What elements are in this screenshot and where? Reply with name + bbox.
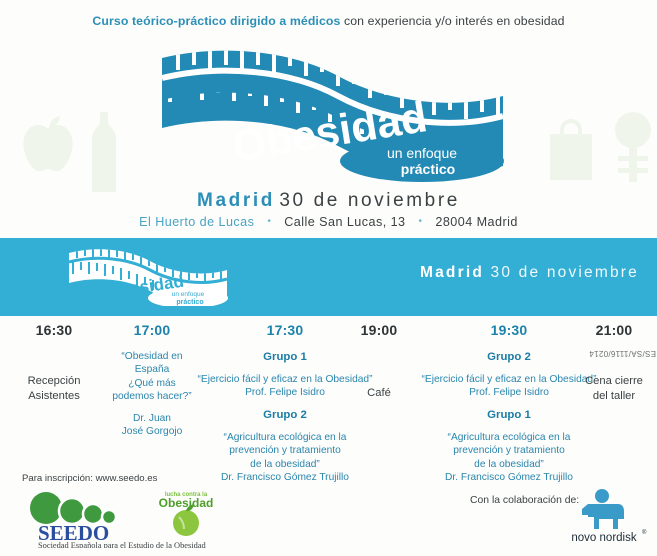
schedule-block-dark: Cena cierredel taller — [572, 374, 656, 403]
tree-watermark-icon — [612, 110, 654, 184]
schedule-body: RecepciónAsistentes — [8, 374, 100, 403]
schedule-line: “Agricultura ecológica en la — [190, 431, 380, 444]
schedule-line: Recepción — [8, 374, 100, 389]
obesidad-logo-white: Obesidad un enfoque práctico — [68, 248, 228, 306]
schedule-block-gap — [190, 423, 380, 431]
logo-subtitle-line2: práctico — [401, 161, 455, 177]
novo-nordisk-wordmark: novo nordisk — [571, 532, 636, 544]
schedule-block-gap — [190, 400, 380, 408]
schedule-block-grupo: Grupo 2 — [190, 408, 380, 423]
bag-watermark-icon — [548, 118, 594, 180]
schedule-column-1630: 16:30RecepciónAsistentes — [8, 322, 100, 403]
seedo-full: Sociedad Española para el Estudio de la … — [38, 541, 206, 548]
event-dateline: Madrid 30 de noviembre — [0, 190, 657, 212]
schedule-line: Asistentes — [8, 389, 100, 404]
schedule-block-body: “Agricultura ecológica en laprevención y… — [190, 431, 380, 485]
obesidad-logo: Obesidad un enfoque práctico — [160, 48, 505, 183]
venue-name: El Huerto de Lucas — [139, 215, 254, 229]
schedule-line: prevención y tratamiento — [190, 444, 380, 457]
lucha-obesidad-logo: lucha contra la Obesidad — [140, 487, 232, 537]
logo-subtitle-line1: un enfoque — [387, 145, 457, 161]
schedule-time-1630: 16:30 — [8, 322, 100, 338]
poster-page: Curso teórico-práctico dirigido a médico… — [0, 0, 657, 556]
schedule-column-2100: 21:00Cena cierredel taller — [572, 322, 656, 403]
blue-banner: Obesidad un enfoque práctico Madrid 30 d… — [0, 238, 657, 316]
schedule-line: Cena cierre — [572, 374, 656, 389]
event-date: 30 de noviembre — [279, 190, 460, 211]
venue-street: Calle San Lucas, 13 — [284, 215, 405, 229]
venue-separator-1: • — [258, 216, 280, 227]
schedule-line: de la obesidad” — [190, 458, 380, 471]
reference-code: ES/SA/1116/0214 — [589, 349, 656, 358]
inscription-text[interactable]: Para inscripción: www.seedo.es — [22, 473, 157, 484]
schedule-line: Grupo 2 — [190, 408, 380, 423]
schedule-line: “Agricultura ecológica en la — [414, 431, 604, 444]
course-tagline: Curso teórico-práctico dirigido a médico… — [0, 14, 657, 28]
schedule-block-body: “Agricultura ecológica en laprevención y… — [414, 431, 604, 485]
schedule-line: Dr. Francisco Gómez Trujillo — [414, 471, 604, 484]
novo-nordisk-logo: novo nordisk ® — [566, 487, 648, 547]
schedule-line: de la obesidad” — [414, 458, 604, 471]
schedule-line: prevención y tratamiento — [414, 444, 604, 457]
bottle-watermark-icon — [88, 112, 120, 192]
banner-dateline: Madrid 30 de noviembre — [420, 264, 639, 282]
schedule-line: Dr. Francisco Gómez Trujillo — [190, 471, 380, 484]
schedule-time-1900: 19:00 — [334, 322, 424, 338]
tagline-rest: con experiencia y/o interés en obesidad — [344, 14, 565, 28]
apple-watermark-icon — [18, 115, 78, 185]
schedule-column-1900: 19:00Café — [334, 322, 424, 401]
schedule-block-grupo: Grupo 1 — [414, 408, 604, 423]
event-venue: El Huerto de Lucas • Calle San Lucas, 13… — [0, 215, 657, 229]
schedule-line: Grupo 1 — [414, 408, 604, 423]
schedule-body: Cena cierredel taller — [572, 374, 656, 403]
lucha-line2: Obesidad — [159, 496, 214, 510]
tagline-bold: Curso teórico-práctico dirigido a médico… — [92, 14, 340, 28]
banner-city: Madrid — [420, 264, 484, 281]
banner-logo-sub1: un enfoque — [172, 291, 205, 298]
schedule-block-dark: RecepciónAsistentes — [8, 374, 100, 403]
collaboration-label: Con la colaboración de: — [470, 495, 579, 506]
schedule-line: Café — [334, 386, 424, 401]
schedule-block-gap — [414, 423, 604, 431]
schedule-body: Café — [334, 386, 424, 401]
venue-zip: 28004 Madrid — [435, 215, 517, 229]
event-city: Madrid — [197, 190, 275, 211]
schedule-block-dark: Café — [334, 386, 424, 401]
banner-date: 30 de noviembre — [491, 264, 639, 281]
schedule-grid: 16:30RecepciónAsistentes17:00“Obesidad e… — [0, 322, 657, 467]
venue-separator-2: • — [409, 216, 431, 227]
banner-logo-sub2: práctico — [176, 299, 203, 306]
novo-nordisk-reg: ® — [642, 529, 647, 536]
schedule-time-2100: 21:00 — [572, 322, 656, 338]
schedule-line: del taller — [572, 389, 656, 404]
